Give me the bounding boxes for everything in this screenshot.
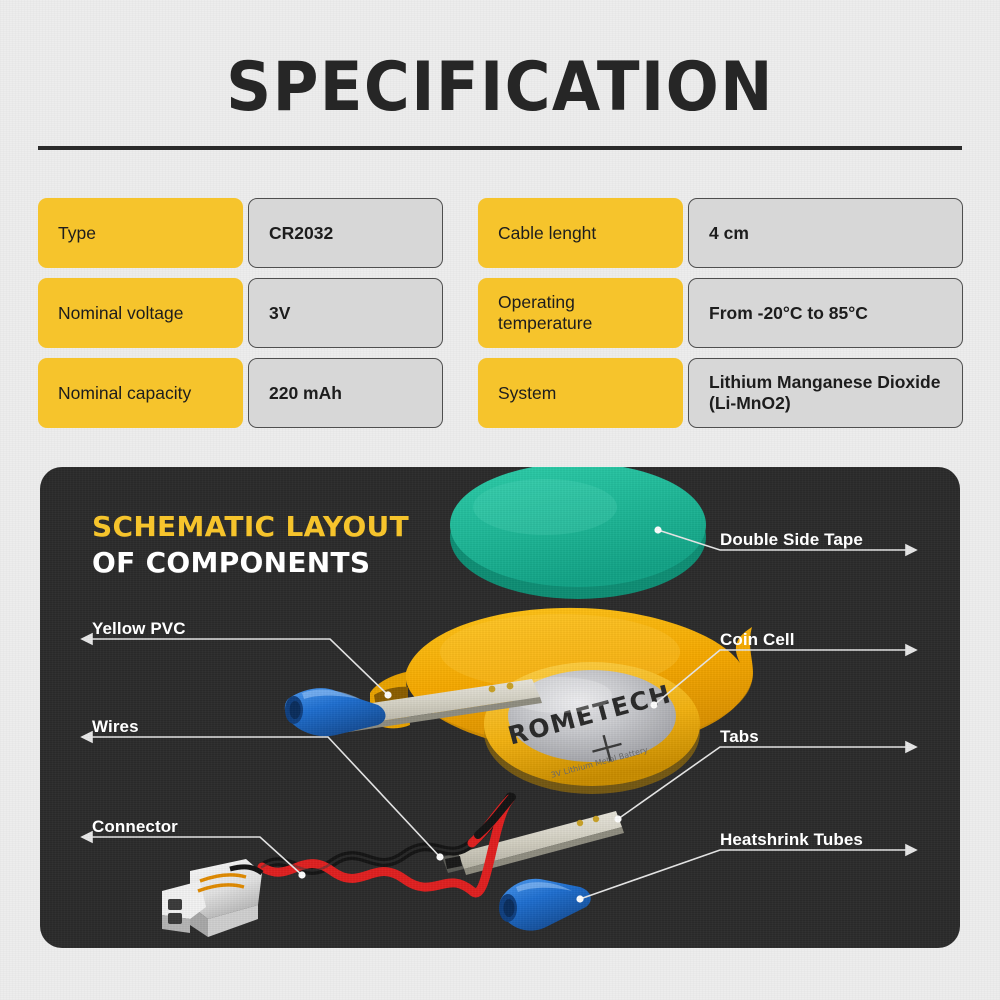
callout-label-coin-cell: Coin Cell [720,630,795,650]
spec-value-operating-temperature: From -20°C to 85°C [688,278,963,348]
page-title: SPECIFICATION [40,48,960,127]
spec-label-operating-temperature: Operating temperature [478,278,683,348]
connector [162,859,262,937]
spec-label-type: Type [38,198,243,268]
callout-label-connector: Connector [92,817,178,837]
leader-heatshrink-tubes [580,850,906,899]
spec-value-system: Lithium Manganese Dioxide (Li-MnO2) [688,358,963,428]
spec-value-cable-length: 4 cm [688,198,963,268]
schematic-panel: ROMETECH 3V Lithium Metal Battery [40,467,960,948]
schematic-heading-line1: SCHEMATIC LAYOUT [92,510,409,543]
callout-label-heatshrink-tubes: Heatshrink Tubes [720,830,863,850]
leader-wires [92,737,440,857]
spec-label-system: System [478,358,683,428]
title-divider [38,146,962,150]
callout-label-yellow-pvc: Yellow PVC [92,619,186,639]
callout-label-tabs: Tabs [720,727,759,747]
callout-label-double-side-tape: Double Side Tape [720,530,863,550]
spec-label-nominal-voltage: Nominal voltage [38,278,243,348]
column-gap [443,353,478,433]
spec-value-nominal-voltage: 3V [248,278,443,348]
leader-yellow-pvc [92,639,388,695]
callout-label-wires: Wires [92,717,139,737]
schematic-heading: SCHEMATIC LAYOUT OF COMPONENTS [92,509,409,581]
specification-table: Type CR2032 Cable lenght 4 cm Nominal vo… [38,193,963,433]
schematic-heading-line2: OF COMPONENTS [92,545,409,581]
spec-value-nominal-capacity: 220 mAh [248,358,443,428]
column-gap [443,273,478,353]
column-gap [443,193,478,273]
heatshrink-tube-lower [499,879,591,931]
spec-label-nominal-capacity: Nominal capacity [38,358,243,428]
spec-label-cable-length: Cable lenght [478,198,683,268]
spec-value-type: CR2032 [248,198,443,268]
